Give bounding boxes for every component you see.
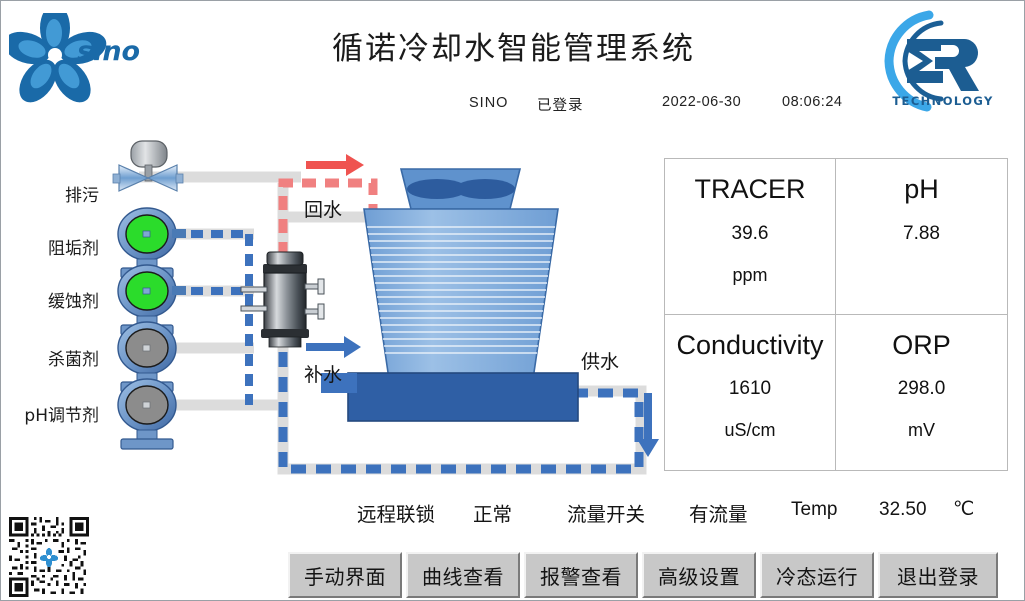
process-diagram: 回水 供水 (1, 121, 671, 491)
remote-interlock-value: 正常 (473, 498, 512, 527)
page-title: 循诺冷却水智能管理系统 (256, 23, 771, 68)
manual-interface-button[interactable]: 手动界面 (288, 552, 402, 598)
3r-logo-subtext: TECHNOLOGY (892, 94, 993, 108)
cold-run-button[interactable]: 冷态运行 (760, 552, 874, 598)
readout-name: Conductivity (676, 331, 823, 361)
readout-name: TRACER (694, 175, 805, 205)
return-water-arrow (306, 154, 364, 176)
readout-value: 7.88 (903, 223, 940, 245)
sino-logo: sino (9, 13, 159, 105)
readout-cell-conductivity: Conductivity 1610 uS/cm (665, 315, 836, 471)
supply-water-label: 供水 (581, 351, 619, 373)
readout-unit: ppm (732, 265, 767, 286)
readout-cell-ph: pH 7.88 (836, 159, 1007, 315)
temperature-label: Temp (791, 499, 837, 521)
advanced-setting-button[interactable]: 高级设置 (642, 552, 756, 598)
measurement-panel: TRACER 39.6 ppm pH 7.88 Conductivity 161… (664, 158, 1008, 471)
header-login-status: 已登录 (537, 94, 584, 115)
sino-logo-text: sino (77, 36, 140, 67)
3r-technology-logo: TECHNOLOGY (867, 7, 1019, 115)
readout-value: 39.6 (732, 223, 769, 245)
readout-value: 298.0 (898, 378, 946, 400)
makeup-water-arrow (306, 336, 361, 358)
readout-unit: uS/cm (724, 420, 775, 441)
qr-code (9, 517, 89, 597)
readout-unit: mV (908, 420, 935, 441)
readout-name: pH (904, 175, 939, 205)
makeup-water-label: 补水 (304, 364, 342, 386)
temperature-unit: ℃ (953, 498, 974, 521)
ph-pump[interactable] (118, 379, 176, 449)
alarm-view-button[interactable]: 报警查看 (524, 552, 638, 598)
header-date: 2022-06-30 (662, 94, 741, 110)
readout-cell-orp: ORP 298.0 mV (836, 315, 1007, 471)
header-time: 08:06:24 (782, 94, 842, 110)
flow-switch-label: 流量开关 (567, 498, 645, 527)
chemical-feed-pipes (171, 234, 249, 405)
readout-cell-tracer: TRACER 39.6 ppm (665, 159, 836, 315)
temperature-value: 32.50 (879, 499, 927, 521)
flow-switch-value: 有流量 (689, 498, 748, 527)
header-username: SINO (469, 95, 508, 111)
readout-name: ORP (892, 331, 951, 361)
return-water-label: 回水 (304, 199, 342, 221)
heat-exchanger (241, 252, 324, 347)
logout-button[interactable]: 退出登录 (878, 552, 998, 598)
application-window: sino TECHNOLOGY 循诺冷却水智能管理系统 SINO 已登录 202… (0, 0, 1025, 601)
remote-interlock-label: 远程联锁 (357, 498, 435, 527)
navigation-button-bar: 手动界面 曲线查看 报警查看 高级设置 冷态运行 退出登录 (288, 552, 998, 598)
header-bar: sino TECHNOLOGY 循诺冷却水智能管理系统 SINO 已登录 202… (1, 1, 1024, 121)
status-bar: 远程联锁 正常 流量开关 有流量 Temp 32.50 ℃ (351, 496, 1011, 530)
blowdown-valve (113, 141, 183, 191)
readout-value: 1610 (729, 378, 771, 400)
cooling-tower (348, 169, 578, 421)
curve-view-button[interactable]: 曲线查看 (406, 552, 520, 598)
